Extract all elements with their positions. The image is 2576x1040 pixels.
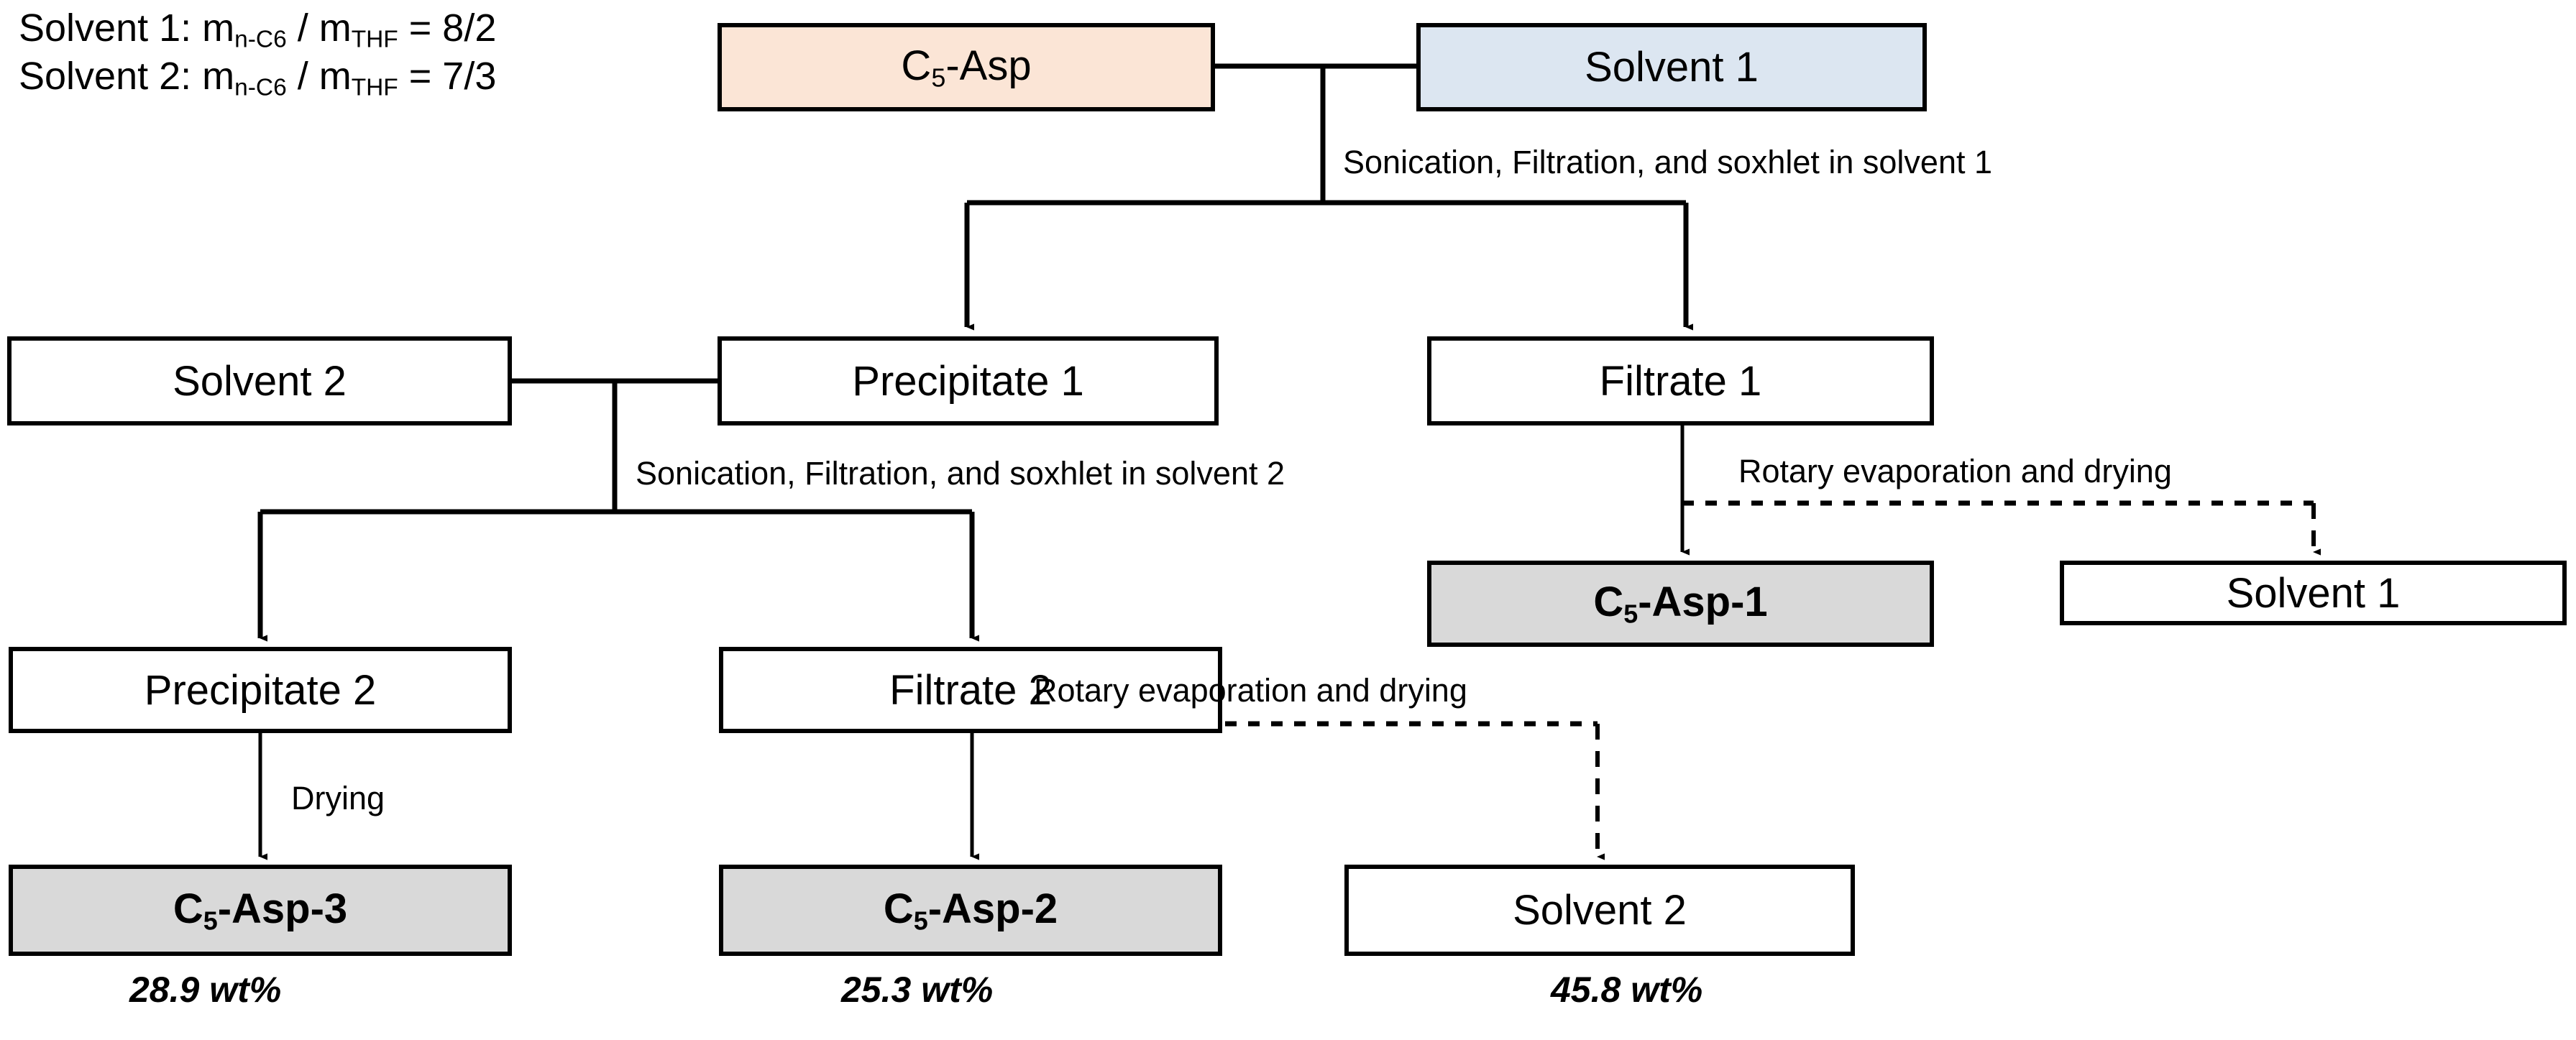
- node-c5asp3-label: C5-Asp-3: [173, 885, 347, 936]
- node-c5asp2-sub: 5: [914, 906, 928, 935]
- node-c5asp2-suffix: -Asp-2: [928, 885, 1058, 932]
- node-c5asp-label: C5-Asp: [901, 42, 1031, 93]
- node-precipitate2[interactable]: Precipitate 2: [9, 647, 512, 733]
- node-solvent1-top[interactable]: Solvent 1: [1416, 23, 1927, 111]
- legend-line-1-suffix: = 8/2: [398, 6, 497, 50]
- node-c5asp1-label: C5-Asp-1: [1593, 578, 1767, 629]
- node-c5asp3-suffix: -Asp-3: [218, 885, 347, 932]
- node-solvent1-top-label: Solvent 1: [1585, 43, 1759, 91]
- node-precipitate1-label: Precipitate 1: [852, 357, 1083, 405]
- node-c5asp3-prefix: C: [173, 885, 203, 932]
- edge-label-rotary-1: Rotary evaporation and drying: [1738, 453, 2172, 490]
- node-c5asp2-prefix: C: [884, 885, 914, 932]
- edge-label-drying: Drying: [291, 780, 385, 817]
- legend-line-1-mid: / m: [287, 6, 352, 50]
- legend-line-1-sub2: THF: [352, 27, 398, 53]
- node-solvent1-right-label: Solvent 1: [2227, 569, 2401, 617]
- legend-line-2-prefix: Solvent 2: m: [19, 55, 234, 98]
- legend-line-2-sub2: THF: [352, 75, 398, 101]
- node-c5asp1-prefix: C: [1593, 579, 1623, 625]
- legend-line-2: Solvent 2: mn-C6 / mTHF = 7/3: [19, 54, 496, 102]
- solvent-ratio-legend: Solvent 1: mn-C6 / mTHF = 8/2 Solvent 2:…: [19, 6, 496, 102]
- legend-line-2-sub1: n-C6: [234, 75, 287, 101]
- node-filtrate2-label: Filtrate 2: [889, 666, 1052, 714]
- node-c5asp1[interactable]: C5-Asp-1: [1427, 561, 1934, 647]
- edge-label-sonication-2: Sonication, Filtration, and soxhlet in s…: [636, 455, 1285, 492]
- node-filtrate1-label: Filtrate 1: [1600, 357, 1762, 405]
- node-c5asp-sub: 5: [931, 63, 945, 92]
- edge-label-rotary-2: Rotary evaporation and drying: [1034, 672, 1467, 709]
- legend-line-2-suffix: = 7/3: [398, 55, 497, 98]
- node-solvent1-right[interactable]: Solvent 1: [2060, 561, 2567, 625]
- legend-line-2-mid: / m: [287, 55, 352, 98]
- node-c5asp-prefix: C: [901, 42, 931, 89]
- node-c5asp1-suffix: -Asp-1: [1638, 579, 1767, 625]
- node-c5asp3[interactable]: C5-Asp-3: [9, 865, 512, 956]
- yield-label-c5asp3: 28.9 wt%: [129, 969, 281, 1011]
- legend-line-1: Solvent 1: mn-C6 / mTHF = 8/2: [19, 6, 496, 54]
- node-c5asp1-sub: 5: [1623, 599, 1638, 629]
- node-solvent2-left-label: Solvent 2: [173, 357, 347, 405]
- yield-label-c5asp2: 25.3 wt%: [841, 969, 993, 1011]
- node-precipitate1[interactable]: Precipitate 1: [718, 336, 1219, 425]
- node-solvent2-bottom-label: Solvent 2: [1513, 886, 1687, 934]
- node-precipitate2-label: Precipitate 2: [145, 666, 376, 714]
- node-c5asp3-sub: 5: [203, 906, 218, 935]
- node-c5asp[interactable]: C5-Asp: [718, 23, 1215, 111]
- legend-line-1-prefix: Solvent 1: m: [19, 6, 234, 50]
- node-solvent2-bottom[interactable]: Solvent 2: [1344, 865, 1855, 956]
- node-solvent2-left[interactable]: Solvent 2: [7, 336, 512, 425]
- node-c5asp2[interactable]: C5-Asp-2: [719, 865, 1222, 956]
- node-c5asp2-label: C5-Asp-2: [884, 885, 1058, 936]
- flowchart-canvas: Solvent 1: mn-C6 / mTHF = 8/2 Solvent 2:…: [0, 0, 2576, 1040]
- yield-label-c5asp1: 45.8 wt%: [1551, 969, 1702, 1011]
- edge-label-sonication-1: Sonication, Filtration, and soxhlet in s…: [1343, 144, 1992, 181]
- node-filtrate1[interactable]: Filtrate 1: [1427, 336, 1934, 425]
- node-c5asp-suffix: -Asp: [945, 42, 1031, 89]
- legend-line-1-sub1: n-C6: [234, 27, 287, 53]
